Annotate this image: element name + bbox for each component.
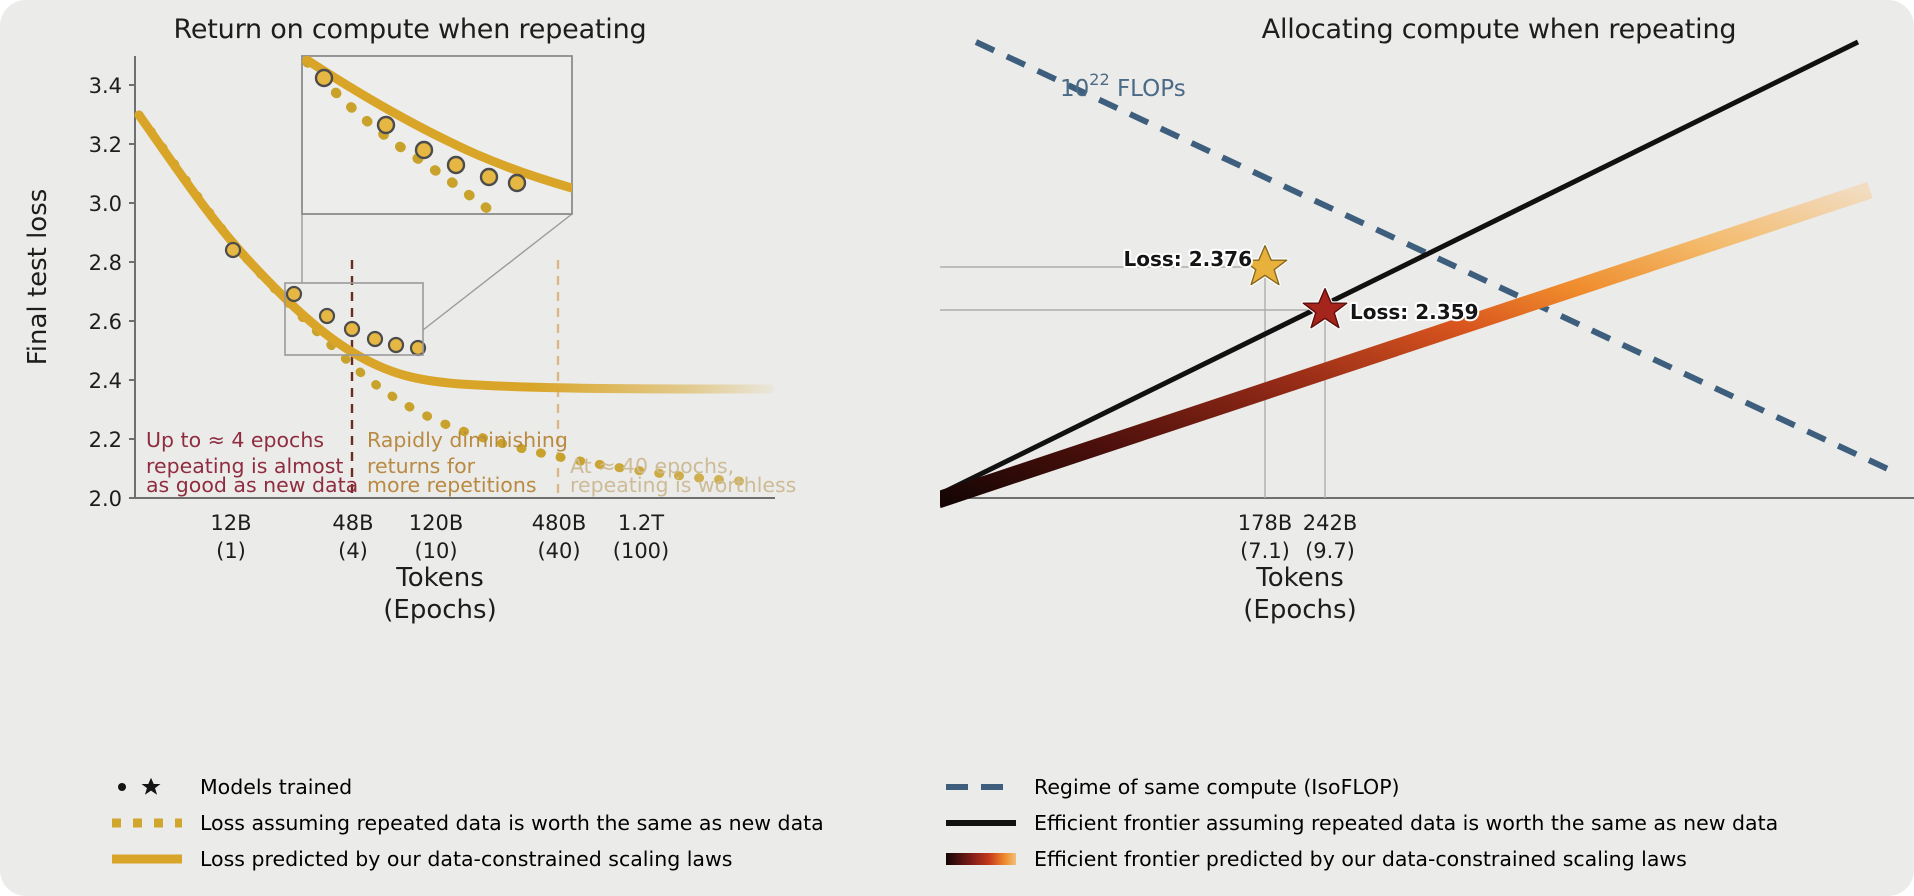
left-x-tick-epochs-3: (40): [537, 539, 580, 563]
legend-label-frontier-repeated-same: Efficient frontier assuming repeated dat…: [1034, 811, 1778, 835]
legend-label-isoflop-regime: Regime of same compute (IsoFLOP): [1034, 775, 1400, 799]
left-x-tick-epochs-2: (10): [414, 539, 457, 563]
annot-2-line-1: repeating is worthless: [570, 473, 796, 497]
legend-key-solid-gold: [106, 848, 192, 870]
legend-item-models-trained: Models trained: [106, 775, 352, 799]
right-chart-panel: Allocating compute when repeating: [940, 0, 1914, 896]
gold-star-loss-label: Loss: 2.376: [1123, 247, 1252, 271]
legend-label-models-trained: Models trained: [200, 775, 352, 799]
left-y-tick-6: 2.2: [89, 428, 122, 452]
annotation-rapidly-diminishing: Rapidly diminishing returns for more rep…: [367, 428, 568, 497]
left-x-tick-tokens-2: 120B: [409, 511, 464, 535]
left-x-axis-title-line1: Tokens: [395, 563, 484, 593]
annotation-up-to-4-epochs: Up to ≈ 4 epochs repeating is almost as …: [146, 428, 358, 497]
left-x-tick-epochs-0: (1): [216, 539, 246, 563]
left-y-axis-title: Final test loss: [23, 189, 53, 366]
right-x-ticks: 178B (7.1) 242B (9.7): [1238, 511, 1358, 563]
frontier-repeated-same-line: [940, 42, 1858, 496]
legend-item-isoflop-regime: Regime of same compute (IsoFLOP): [940, 775, 1400, 799]
legend-key-solid-black: [940, 812, 1026, 834]
left-x-tick-tokens-3: 480B: [532, 511, 587, 535]
legend-item-loss-data-constrained: Loss predicted by our data-constrained s…: [106, 847, 732, 871]
left-y-ticks: 3.4 3.2 3.0 2.8 2.6 2.4 2.2 2.0: [89, 74, 135, 511]
left-x-tick-tokens-1: 48B: [332, 511, 373, 535]
right-chart-svg: 8.67B 6.34B Parameters 1022 FLOPs: [940, 0, 1914, 896]
legend-key-dashed-blue: [940, 776, 1026, 798]
legend-item-frontier-data-constrained: Efficient frontier predicted by our data…: [940, 847, 1687, 871]
annot-0-line-2: as good as new data: [146, 473, 358, 497]
left-chart-panel: Return on compute when repeating: [0, 0, 940, 896]
figure-root: Return on compute when repeating: [0, 0, 1914, 896]
legend-label-loss-repeated-same: Loss assuming repeated data is worth the…: [200, 811, 824, 835]
annot-0-line-0: Up to ≈ 4 epochs: [146, 428, 324, 452]
right-x-axis-title-line2: (Epochs): [1243, 595, 1356, 625]
annot-1-line-2: more repetitions: [367, 473, 537, 497]
star-icon: [142, 778, 161, 795]
left-y-tick-0: 3.4: [89, 74, 122, 98]
left-x-axis-title-line2: (Epochs): [383, 595, 496, 625]
isoflop-unit: FLOPs: [1110, 76, 1186, 102]
right-x-tick-tokens-1: 242B: [1303, 511, 1358, 535]
legend-item-frontier-repeated-same: Efficient frontier assuming repeated dat…: [940, 811, 1778, 835]
left-y-tick-7: 2.0: [89, 487, 122, 511]
left-y-tick-5: 2.4: [89, 369, 122, 393]
inset-panel: [302, 56, 572, 214]
legend-key-dotted-gold: [106, 812, 192, 834]
left-y-tick-3: 2.8: [89, 251, 122, 275]
left-x-tick-tokens-4: 1.2T: [618, 511, 664, 535]
legend-label-loss-data-constrained: Loss predicted by our data-constrained s…: [200, 847, 732, 871]
legend-label-frontier-data-constrained: Efficient frontier predicted by our data…: [1034, 847, 1687, 871]
left-x-tick-tokens-0: 12B: [210, 511, 251, 535]
left-y-tick-4: 2.6: [89, 310, 122, 334]
left-x-tick-epochs-4: (100): [613, 539, 669, 563]
legend-key-dot-star: [106, 776, 192, 798]
right-x-tick-tokens-0: 178B: [1238, 511, 1293, 535]
isoflop-line: [976, 42, 1890, 470]
annotation-at-40-epochs: At ≈ 40 epochs, repeating is worthless: [570, 454, 796, 497]
left-x-tick-epochs-1: (4): [338, 539, 368, 563]
dot-icon: [118, 783, 126, 791]
right-x-tick-epochs-0: (7.1): [1240, 539, 1290, 563]
frontier-data-constrained-line: [940, 190, 1870, 500]
annot-1-line-0: Rapidly diminishing: [367, 428, 568, 452]
right-x-tick-epochs-1: (9.7): [1305, 539, 1355, 563]
left-chart-svg: 3.4 3.2 3.0 2.8 2.6 2.4 2.2 2.0 Final te…: [0, 0, 940, 896]
svg-text:1022 FLOPs: 1022 FLOPs: [1060, 70, 1186, 102]
isoflop-base: 10: [1060, 76, 1089, 102]
isoflop-exponent: 22: [1089, 70, 1109, 89]
inset-connector-bottom: [423, 214, 572, 330]
left-y-tick-1: 3.2: [89, 133, 122, 157]
right-x-axis-title-line1: Tokens: [1255, 563, 1344, 593]
red-star-loss-label: Loss: 2.359: [1350, 300, 1479, 324]
left-x-ticks: 12B (1) 48B (4) 120B (10) 480B (40) 1.2T…: [210, 511, 669, 563]
legend-item-loss-repeated-same: Loss assuming repeated data is worth the…: [106, 811, 824, 835]
left-y-tick-2: 3.0: [89, 192, 122, 216]
isoflop-label: 1022 FLOPs: [1060, 70, 1186, 102]
legend-key-gradient-stripe: [940, 848, 1026, 870]
